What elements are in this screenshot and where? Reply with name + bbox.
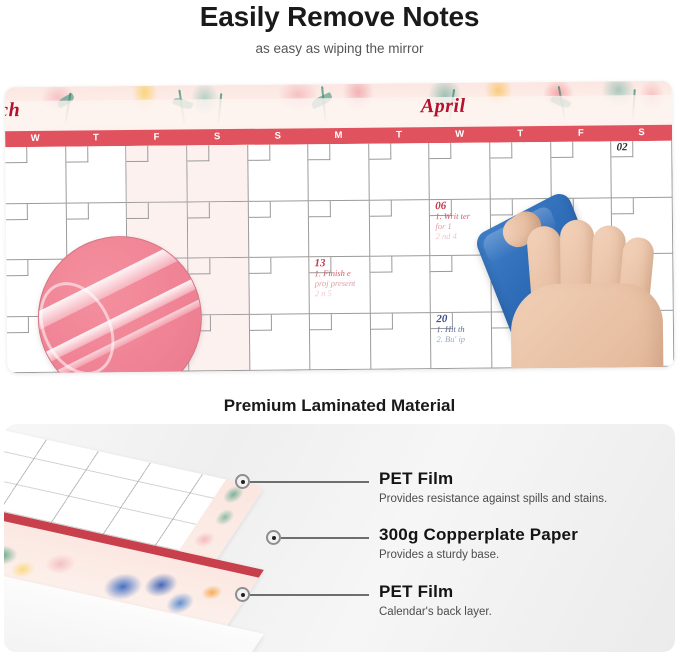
weekday-letter: T (490, 126, 551, 143)
date-box (551, 142, 573, 158)
weekday-letter: S (248, 128, 309, 145)
calendar-cell (126, 145, 187, 202)
date-box (127, 202, 149, 218)
leader-dot-pet-film-front (235, 474, 250, 489)
weekday-letter: T (66, 130, 127, 147)
easily-remove-notes-section: Easily Remove Notes as easy as wiping th… (0, 0, 679, 382)
calendar-cell (187, 145, 248, 202)
calendar-cell (370, 200, 431, 257)
calendar-note-20: 20 1. Hit th 2. Bu' ip (433, 312, 465, 343)
layer-name: PET Film (379, 582, 492, 602)
note-line: 1. Writ ter (432, 210, 470, 220)
weekday-letter: F (551, 125, 612, 142)
date-box (309, 201, 331, 217)
material-layer-diagram: PET Film Provides resistance against spi… (4, 424, 675, 652)
page-title: Easily Remove Notes (0, 1, 679, 33)
date-box (310, 314, 332, 330)
date-box (6, 203, 28, 219)
layer-description: Calendar's back layer. (379, 606, 492, 618)
note-line: for 1 (432, 220, 470, 230)
palm (511, 283, 665, 373)
date-box (430, 143, 452, 159)
date-box (66, 146, 88, 162)
leader-dot-copperplate-paper (266, 530, 281, 545)
note-date: 20 (433, 312, 465, 323)
note-line: 1. Finish e (312, 268, 356, 278)
weekday-letter: S (611, 125, 672, 142)
date-box (431, 256, 453, 272)
date-box (66, 203, 88, 219)
hand-illustration (496, 209, 675, 374)
leader-line-copperplate-paper (281, 537, 369, 539)
calendar-cell (490, 142, 551, 199)
layer-label-pet-film-back: PET Film Calendar's back layer. (379, 582, 492, 618)
weekday-letter: T (369, 127, 430, 144)
calendar-note-06: 06 1. Writ ter for 1 2 nd 4 (432, 199, 470, 240)
date-box (188, 258, 210, 274)
calendar-cell (5, 147, 66, 204)
section-title: Premium Laminated Material (0, 396, 679, 416)
layer-label-copperplate-paper: 300g Copperplate Paper Provides a sturdy… (379, 525, 578, 561)
note-line: 2 n 5 (312, 288, 356, 298)
note-line: 2 nd 4 (432, 230, 470, 240)
weekday-letter: W (5, 131, 66, 148)
leader-line-pet-film-front (250, 481, 369, 483)
date-box (6, 260, 28, 276)
date-box (248, 145, 270, 161)
date-box (370, 256, 392, 272)
note-date: 02 (614, 141, 631, 152)
calendar-cell (370, 256, 431, 313)
leader-line-pet-film-back (250, 594, 369, 596)
date-box (369, 144, 391, 160)
calendar-cell (430, 143, 491, 200)
date-box (5, 147, 27, 163)
calendar-cell-02: 02 (612, 141, 673, 198)
date-box (370, 200, 392, 216)
leader-dot-pet-film-back (235, 587, 250, 602)
page-subtitle: as easy as wiping the mirror (0, 41, 679, 56)
weekday-letter: F (126, 129, 187, 146)
layer-name: PET Film (379, 469, 607, 489)
calendar-cell (431, 256, 492, 313)
date-box (371, 313, 393, 329)
calendar-cell (6, 203, 67, 260)
weekday-letter: W (430, 127, 491, 144)
note-date: 06 (432, 199, 470, 210)
layer-description: Provides resistance against spills and s… (379, 493, 607, 505)
calendar-cell (308, 144, 369, 201)
calendar-cell-20: 20 1. Hit th 2. Bu' ip (431, 312, 492, 369)
date-box (188, 202, 210, 218)
weekday-letter: M (308, 128, 369, 145)
date-box (490, 142, 512, 158)
calendar-cell (248, 201, 309, 258)
note-line: proj present (312, 278, 356, 288)
note-line: 2. Bu' ip (433, 333, 465, 343)
calendar-cell (309, 200, 370, 257)
layer-description: Provides a sturdy base. (379, 549, 578, 561)
date-box (126, 146, 148, 162)
date-box (248, 201, 270, 217)
note-date: 13 (311, 257, 355, 268)
calendar-cell (551, 141, 612, 198)
note-line: 1. Hit th (433, 323, 465, 333)
calendar-cell (249, 257, 310, 314)
calendar-note-02: 02 (614, 141, 631, 152)
calendar-note-13: 13 1. Finish e proj present 2 n 5 (311, 257, 355, 298)
calendar-cell (248, 144, 309, 201)
date-box (249, 258, 271, 274)
calendar-photo: rch April W T F S S M T W T F S (5, 81, 675, 373)
month-label-march: rch (5, 99, 21, 122)
weekday-letter: S (187, 129, 248, 146)
calendar-cell (310, 313, 371, 370)
layer-name: 300g Copperplate Paper (379, 525, 578, 545)
date-box (308, 144, 330, 160)
month-label-april: April (421, 95, 466, 118)
calendar-cell (249, 314, 310, 371)
date-box (249, 314, 271, 330)
calendar-cell (66, 146, 127, 203)
layer-label-pet-film-front: PET Film Provides resistance against spi… (379, 469, 607, 505)
date-box (7, 316, 29, 332)
date-box (187, 145, 209, 161)
premium-laminated-material-section: Premium Laminated Material PET Film Prov… (0, 382, 679, 657)
calendar-cell (371, 313, 432, 370)
calendar-cell-13: 13 1. Finish e proj present 2 n 5 (309, 257, 370, 314)
calendar-cell (369, 143, 430, 200)
